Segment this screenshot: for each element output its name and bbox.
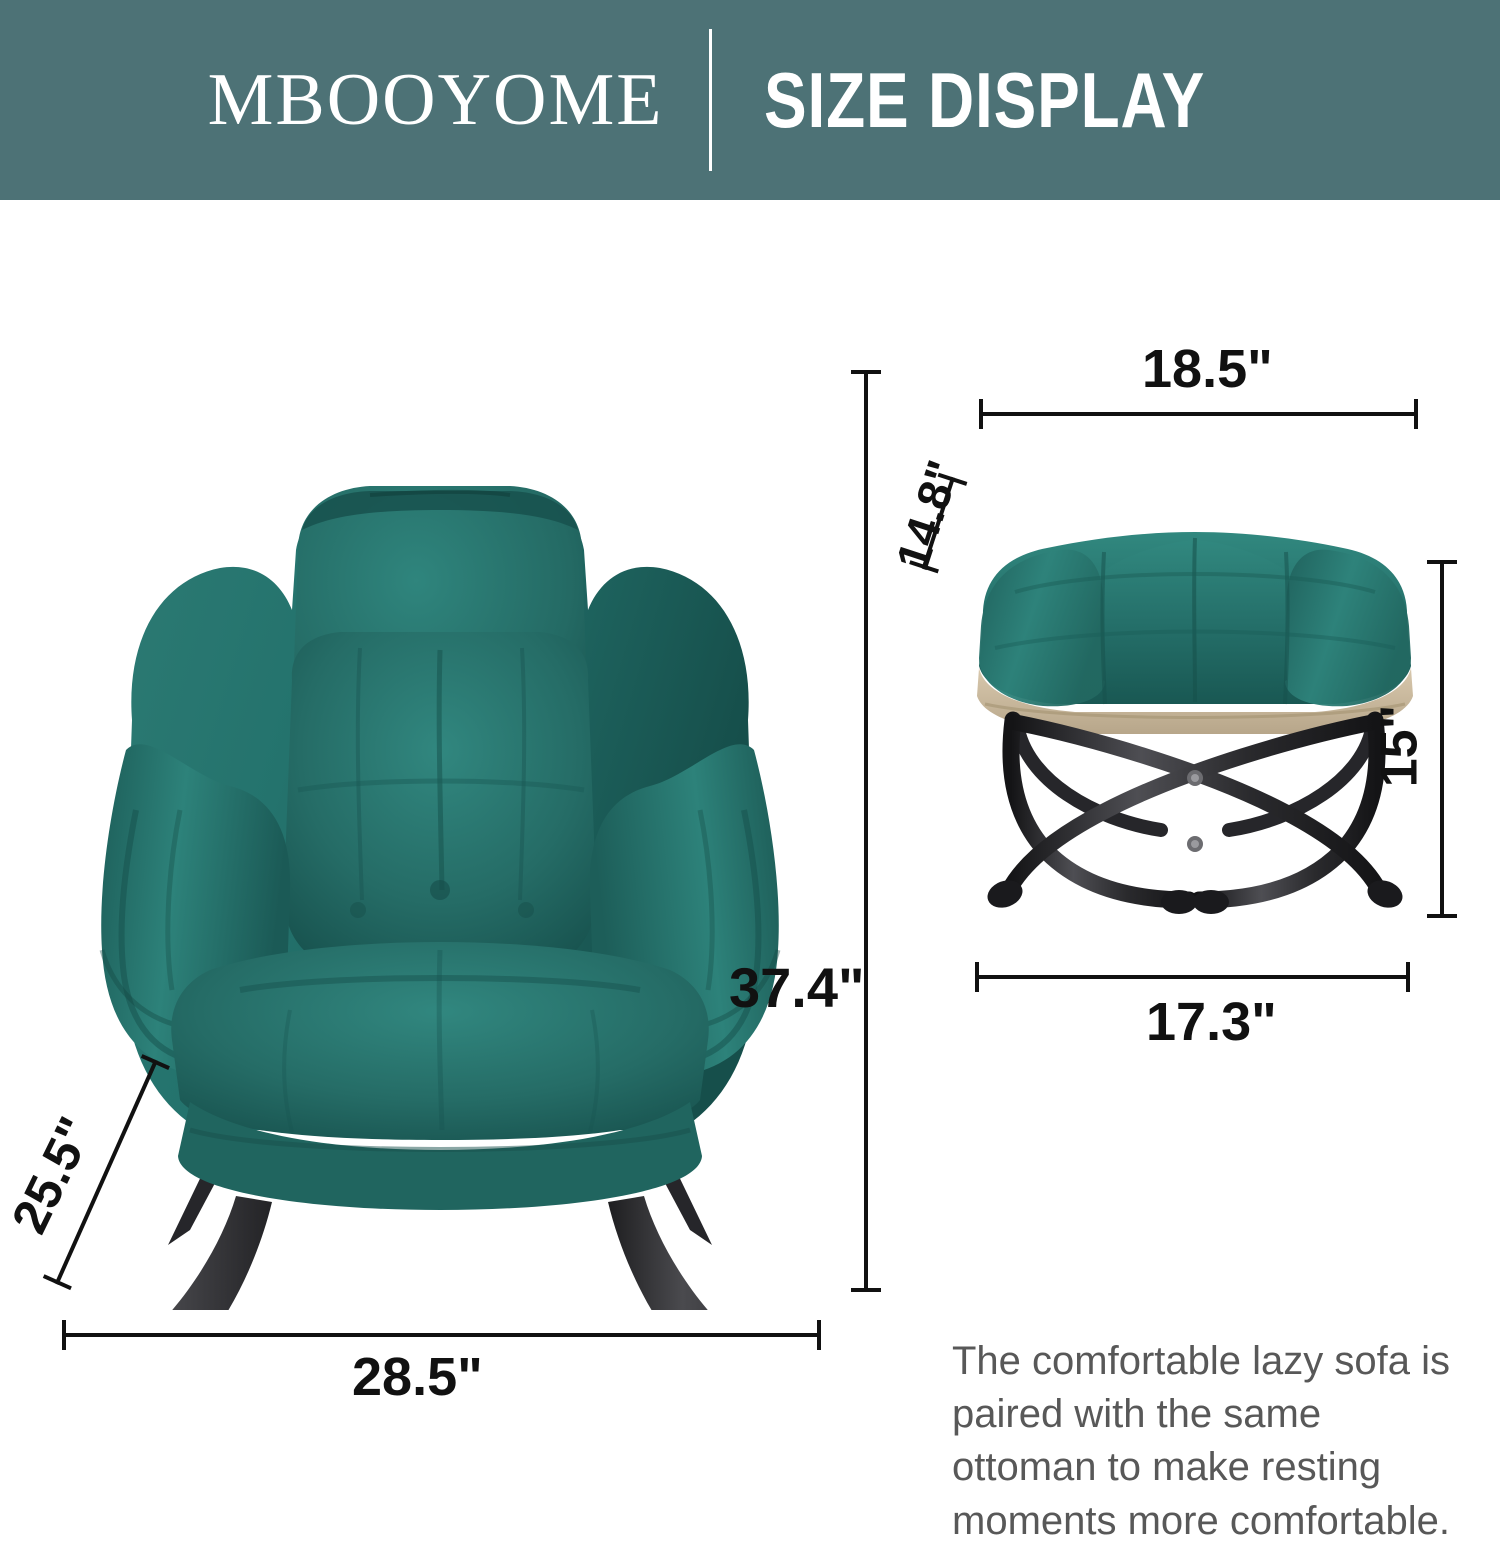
product-size-display-stage: 37.4" 28.5" 25.5" xyxy=(0,200,1500,1407)
ottoman-width-dimension-line xyxy=(980,412,1418,416)
ottoman-cushion xyxy=(979,532,1411,706)
ottoman-base-width-cap-left xyxy=(975,962,979,992)
chair-width-cap-left xyxy=(62,1320,66,1350)
chair-seat-cushion xyxy=(171,942,708,1140)
product-description: The comfortable lazy sofa is paired with… xyxy=(952,1335,1472,1548)
chair-height-cap-top xyxy=(851,370,881,374)
ottoman-image xyxy=(955,420,1435,920)
header-banner: MBOOYOME SIZE DISPLAY xyxy=(0,0,1500,200)
brand-name: MBOOYOME xyxy=(198,63,664,137)
ottoman-width-cap-left xyxy=(979,399,983,429)
page-title: SIZE DISPLAY xyxy=(764,61,1205,139)
ottoman-base-width-label: 17.3" xyxy=(1146,995,1277,1049)
ottoman-height-cap-bottom xyxy=(1427,914,1457,918)
lazy-sofa-chair-image xyxy=(40,250,840,1310)
ottoman-height-label: 15" xyxy=(1373,705,1425,788)
ottoman-width-label: 18.5" xyxy=(1142,342,1273,396)
chair-back-cushion xyxy=(284,632,596,970)
ottoman-base-width-dimension-line xyxy=(976,975,1410,979)
chair-width-dimension-line xyxy=(63,1333,820,1337)
chair-height-label: 37.4" xyxy=(729,960,865,1016)
ottoman-base-width-cap-right xyxy=(1406,962,1410,992)
header-divider xyxy=(709,29,712,171)
chair-height-cap-bottom xyxy=(851,1288,881,1292)
ottoman-width-cap-right xyxy=(1414,399,1418,429)
ottoman-height-cap-top xyxy=(1427,560,1457,564)
chair-height-dimension-line xyxy=(864,372,868,1292)
ottoman-frame-rivets xyxy=(1187,770,1203,852)
chair-width-label: 28.5" xyxy=(352,1350,483,1404)
ottoman-height-dimension-line xyxy=(1440,562,1444,918)
chair-width-cap-right xyxy=(817,1320,821,1350)
ottoman-frame xyxy=(1009,720,1379,900)
